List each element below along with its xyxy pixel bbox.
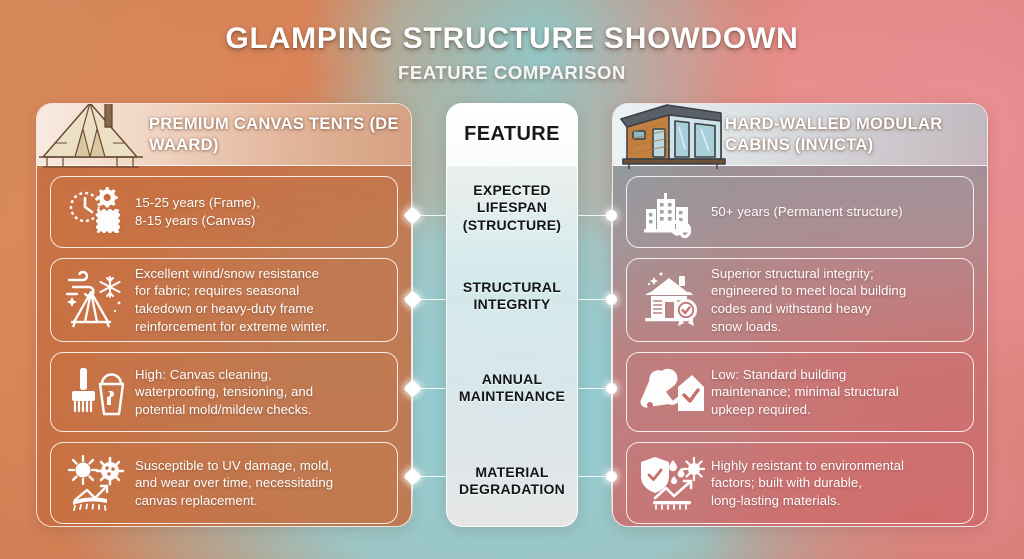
right-row-1-text: 50+ years (Permanent structure) <box>711 203 963 221</box>
panel-feature-labels: FEATURE EXPECTED LIFESPAN (STRUCTURE) ST… <box>446 103 578 527</box>
left-row-2-text: Excellent wind/snow resistance for fabri… <box>135 265 387 335</box>
right-panel-rows: 50+ years (Permanent structure) <box>613 166 987 527</box>
header: GLAMPING STRUCTURE SHOWDOWN FEATURE COMP… <box>0 22 1024 84</box>
panel-hard-walled-modular-cabins[interactable]: HARD-WALLED MODULAR CABINS (INVICTA) <box>612 103 988 527</box>
left-row-3-text: High: Canvas cleaning, waterproofing, te… <box>135 366 387 419</box>
page-title: GLAMPING STRUCTURE SHOWDOWN <box>0 22 1024 56</box>
left-panel-header: PREMIUM CANVAS TENTS (DE WAARD) <box>37 104 411 166</box>
right-row-expected-lifespan[interactable]: 50+ years (Permanent structure) <box>626 176 974 248</box>
left-row-annual-maintenance[interactable]: High: Canvas cleaning, waterproofing, te… <box>50 352 398 432</box>
connector-line-left-2 <box>412 299 446 300</box>
feature-annual-maintenance: ANNUAL MAINTENANCE <box>447 342 577 434</box>
feature-list: EXPECTED LIFESPAN (STRUCTURE) STRUCTURAL… <box>447 166 577 527</box>
left-panel-rows: 15-25 years (Frame), 8-15 years (Canvas) <box>37 166 411 527</box>
panel-premium-canvas-tents[interactable]: PREMIUM CANVAS TENTS (DE WAARD) <box>36 103 412 527</box>
canvas-bell-tent-icon <box>37 104 149 166</box>
connector-line-left-4 <box>412 476 446 477</box>
connector-line-right-3 <box>578 388 612 389</box>
right-row-structural-integrity[interactable]: Superior structural integrity; engineere… <box>626 258 974 342</box>
wrench-house-check-icon <box>633 365 711 419</box>
feature-expected-lifespan: EXPECTED LIFESPAN (STRUCTURE) <box>447 166 577 250</box>
wind-snowflake-tent-icon <box>57 270 135 330</box>
feature-material-degradation: MATERIAL DEGRADATION <box>447 434 577 527</box>
right-row-2-text: Superior structural integrity; engineere… <box>711 265 963 335</box>
clock-gear-fabric-icon <box>57 184 135 240</box>
modular-cabin-icon <box>613 104 725 166</box>
right-panel-title: HARD-WALLED MODULAR CABINS (INVICTA) <box>725 114 987 155</box>
connector-line-left-3 <box>412 388 446 389</box>
left-panel-title: PREMIUM CANVAS TENTS (DE WAARD) <box>149 114 411 155</box>
brush-bucket-icon <box>57 364 135 420</box>
sun-mold-fabric-wear-icon <box>57 454 135 512</box>
center-panel-header: FEATURE <box>447 104 577 166</box>
right-panel-header: HARD-WALLED MODULAR CABINS (INVICTA) <box>613 104 987 166</box>
page-subtitle: FEATURE COMPARISON <box>0 62 1024 84</box>
connector-line-right-2 <box>578 299 612 300</box>
right-row-material-degradation[interactable]: Highly resistant to environmental factor… <box>626 442 974 524</box>
infographic-canvas: GLAMPING STRUCTURE SHOWDOWN FEATURE COMP… <box>0 0 1024 559</box>
comparison-grid: PREMIUM CANVAS TENTS (DE WAARD) <box>0 103 1024 527</box>
left-row-1-text: 15-25 years (Frame), 8-15 years (Canvas) <box>135 194 387 229</box>
right-row-4-text: Highly resistant to environmental factor… <box>711 457 963 510</box>
buildings-infinity-icon <box>633 185 711 239</box>
snow-cabin-certified-icon <box>633 270 711 330</box>
right-row-3-text: Low: Standard building maintenance; mini… <box>711 366 963 419</box>
left-row-material-degradation[interactable]: Susceptible to UV damage, mold, and wear… <box>50 442 398 524</box>
left-row-4-text: Susceptible to UV damage, mold, and wear… <box>135 457 387 510</box>
left-row-structural-integrity[interactable]: Excellent wind/snow resistance for fabri… <box>50 258 398 342</box>
left-connector-rail <box>412 189 413 519</box>
connector-line-right-1 <box>578 215 612 216</box>
left-row-expected-lifespan[interactable]: 15-25 years (Frame), 8-15 years (Canvas) <box>50 176 398 248</box>
connector-line-right-4 <box>578 476 612 477</box>
connector-line-left-1 <box>412 215 446 216</box>
right-row-annual-maintenance[interactable]: Low: Standard building maintenance; mini… <box>626 352 974 432</box>
center-header-label: FEATURE <box>464 123 560 146</box>
shield-weather-resistance-icon <box>633 454 711 512</box>
feature-structural-integrity: STRUCTURAL INTEGRITY <box>447 250 577 342</box>
